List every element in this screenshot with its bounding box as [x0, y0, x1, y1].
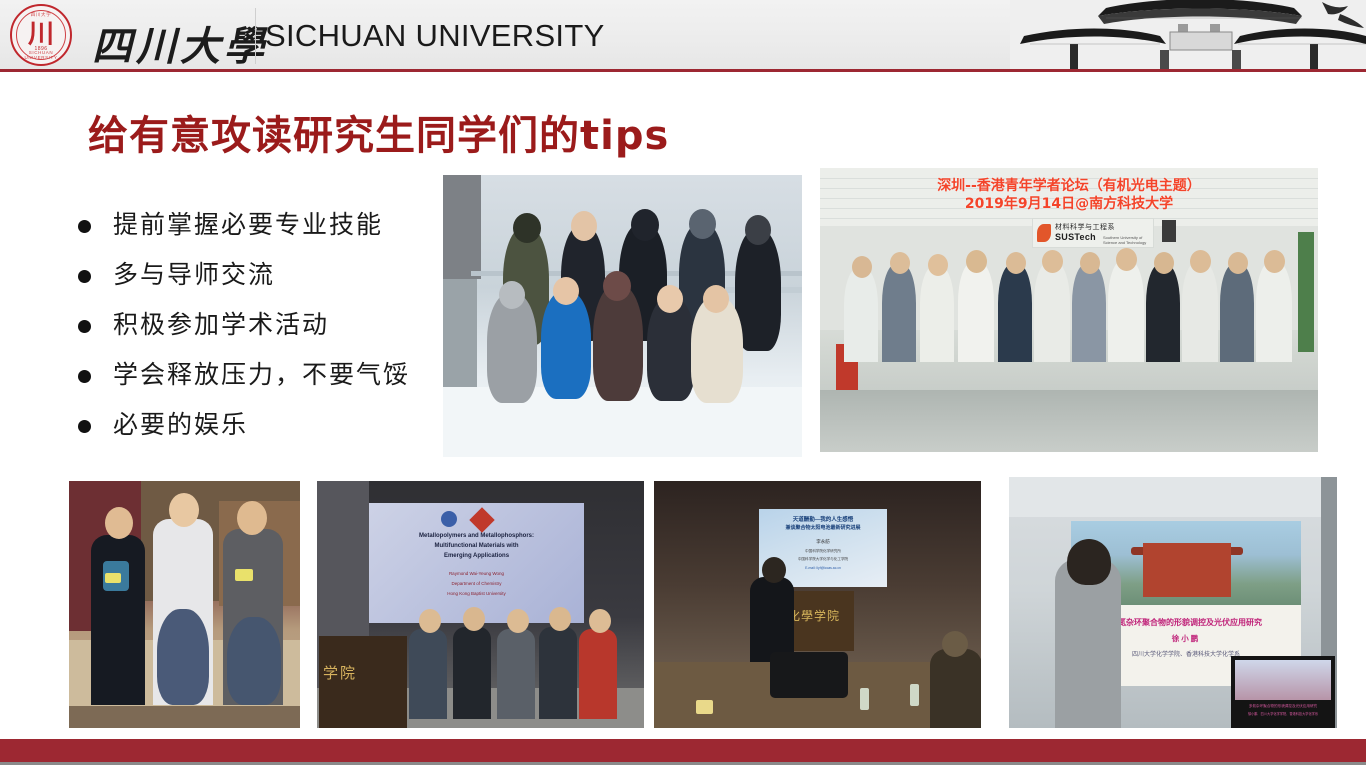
bullet-dot-icon: [78, 270, 91, 283]
page-title: 给有意攻读研究生同学们的tips: [88, 103, 669, 161]
list-item: 多与导师交流: [78, 258, 478, 308]
monitor-subtitle: 徐小鹏 四川大学化学学院、香港科技大学化学系: [1231, 711, 1335, 716]
bullet-dot-icon: [78, 420, 91, 433]
institute-logo-icon: [469, 507, 494, 532]
banner-sustech-en: SUSTech: [1055, 232, 1096, 242]
forum-overlay-line2: 2019年9月14日@南方科技大学: [820, 196, 1318, 214]
list-item: 必要的娱乐: [78, 408, 478, 458]
seal-rim-top-text: 四川大学: [12, 12, 70, 18]
bullet-label: 提前掌握必要专业技能: [113, 208, 383, 242]
chinese-archway-paifang-icon: [1010, 0, 1366, 70]
speaker-projector-photo: 多氮杂环聚合物的形貌调控及光伏应用研究 徐小鹏 四川大学化学学院、香港科技大学化…: [1009, 477, 1337, 728]
snowy-group-photo: [443, 175, 802, 457]
sichuan-university-seal-icon: 四川大学 川 1896 SICHUAN UNIVERSITY: [10, 4, 72, 66]
bullet-label: 积极参加学术活动: [113, 308, 329, 342]
tips-bullet-list: 提前掌握必要专业技能 多与导师交流 积极参加学术活动 学会释放压力，不要气馁 必…: [78, 208, 478, 458]
slide-organization-1: 中国科学院化学研究所: [759, 549, 887, 554]
university-logo-icon: [441, 511, 457, 527]
bullet-label: 学会释放压力，不要气馁: [113, 358, 410, 392]
bullet-label: 多与导师交流: [113, 258, 275, 292]
forum-overlay-line1: 深圳--香港青年学者论坛（有机光电主题）: [820, 178, 1318, 196]
lecture-hall-photo: 天道酬勤—我的人生感悟 兼谈聚合物太阳电池最新研究进展 李永舫 中国科学院化学研…: [654, 481, 981, 728]
podium-sign-text: 化學学院: [788, 607, 840, 624]
banner-department-cn: 材料科学与工程系: [1055, 222, 1115, 232]
brand-name-chinese: 四川大學: [92, 14, 268, 72]
header-divider: [255, 8, 256, 64]
slide-title-line1: Metallopolymers and Metallophosphors:: [369, 533, 584, 539]
podium: 学院: [319, 636, 407, 728]
presentation-slide: 四川大学 川 1896 SICHUAN UNIVERSITY 四川大學 SICH…: [0, 0, 1366, 765]
confidence-monitor: 多氮杂环聚合物的形貌调控及光伏应用研究 徐小鹏 四川大学化学学院、香港科技大学化…: [1231, 656, 1335, 728]
seal-rim-bottom-text: SICHUAN UNIVERSITY: [12, 50, 70, 60]
forum-group-photo: 材料科学与工程系 SUSTech Southern University of …: [820, 168, 1318, 452]
slide-header: 四川大学 川 1896 SICHUAN UNIVERSITY 四川大學 SICH…: [0, 0, 1366, 72]
bullet-dot-icon: [78, 370, 91, 383]
sustech-banner: 材料科学与工程系 SUSTech Southern University of …: [1032, 218, 1154, 248]
slide-speaker: 李永舫: [759, 539, 887, 545]
slide-title-line2: 兼谈聚合物太阳电池最新研究进展: [759, 524, 887, 531]
list-item: 积极参加学术活动: [78, 308, 478, 358]
slide-department: Department of Chemistry: [369, 581, 584, 586]
list-item: 提前掌握必要专业技能: [78, 208, 478, 258]
banner-sub-en: Southern University of Science and Techn…: [1103, 235, 1153, 245]
slide-title-line2: Multifunctional Materials with: [369, 543, 584, 549]
wall-speaker-icon: [1162, 220, 1176, 242]
header-accent-rule: [0, 69, 1366, 72]
monitor-title: 多氮杂环聚合物的形貌调控及光伏应用研究: [1231, 704, 1335, 709]
sustech-flame-icon: [1037, 224, 1051, 242]
bullet-dot-icon: [78, 320, 91, 333]
brand-name-english: SICHUAN UNIVERSITY: [265, 18, 605, 54]
forum-title-overlay: 深圳--香港青年学者论坛（有机光电主题） 2019年9月14日@南方科技大学: [820, 178, 1318, 213]
podium-sign-text: 学院: [323, 662, 357, 683]
list-item: 学会释放压力，不要气馁: [78, 358, 478, 408]
bullet-dot-icon: [78, 220, 91, 233]
slide-title-line3: Emerging Applications: [369, 553, 584, 559]
slide-speaker: Raymond Wai-Yeung Wong: [369, 571, 584, 576]
slide-title-line1: 天道酬勤—我的人生感悟: [759, 515, 887, 523]
projection-screen: Metallopolymers and Metallophosphors: Mu…: [369, 503, 584, 623]
three-people-photo: [69, 481, 300, 728]
slide-organization: Hong Kong Baptist University: [369, 591, 584, 596]
bullet-label: 必要的娱乐: [113, 408, 248, 442]
seal-glyph: 川: [28, 21, 54, 47]
lecture-metallopolymers-photo: Metallopolymers and Metallophosphors: Mu…: [317, 481, 644, 728]
speaker-head: [1067, 539, 1111, 585]
